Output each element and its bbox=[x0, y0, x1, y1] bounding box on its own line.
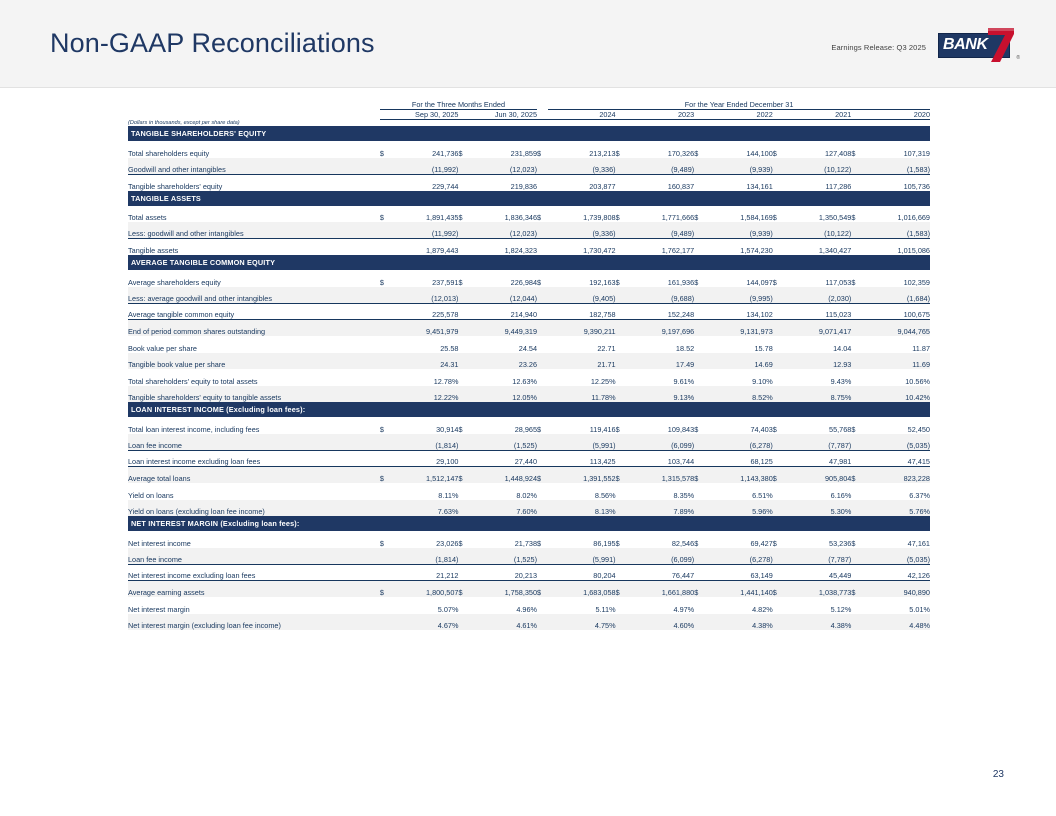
currency-symbol: $ bbox=[694, 467, 705, 484]
table-cell-value: 4.48% bbox=[862, 614, 930, 631]
currency-symbol bbox=[616, 369, 627, 386]
currency-symbol bbox=[458, 597, 469, 614]
currency-symbol bbox=[694, 222, 705, 239]
currency-symbol: $ bbox=[851, 467, 862, 484]
table-row: Total shareholders' equity to total asse… bbox=[128, 369, 930, 386]
currency-symbol: $ bbox=[851, 531, 862, 548]
table-cell-value: 203,877 bbox=[548, 174, 616, 191]
table-cell-value: (9,336) bbox=[548, 222, 616, 239]
table-cell-value: (5,035) bbox=[862, 548, 930, 565]
table-cell-value: 9,197,696 bbox=[627, 320, 695, 337]
currency-symbol: $ bbox=[773, 141, 784, 158]
table-cell-value: 1,824,323 bbox=[470, 239, 538, 256]
table-cell-value: 134,102 bbox=[705, 303, 773, 320]
column-header-sep-2025: Sep 30, 2025 bbox=[380, 110, 459, 120]
currency-symbol bbox=[694, 614, 705, 631]
table-cell-value: (12,044) bbox=[470, 287, 538, 304]
currency-symbol: $ bbox=[694, 206, 705, 223]
table-cell-value: 17.49 bbox=[627, 353, 695, 370]
table-cell-value: 214,940 bbox=[470, 303, 538, 320]
table-row: Tangible shareholders' equity to tangibl… bbox=[128, 386, 930, 403]
table-cell-value: 10.56% bbox=[862, 369, 930, 386]
table-cell-value: 5.11% bbox=[548, 597, 616, 614]
table-cell-value: 226,984 bbox=[470, 270, 538, 287]
currency-symbol bbox=[694, 548, 705, 565]
currency-symbol bbox=[694, 239, 705, 256]
currency-symbol: $ bbox=[773, 467, 784, 484]
table-cell-value: (1,814) bbox=[391, 548, 459, 565]
table-cell-value: 1,730,472 bbox=[548, 239, 616, 256]
table-row: Average tangible common equity225,578214… bbox=[128, 303, 930, 320]
currency-symbol bbox=[616, 386, 627, 403]
currency-symbol bbox=[616, 239, 627, 256]
table-cell-value: (6,278) bbox=[705, 434, 773, 451]
currency-symbol bbox=[773, 483, 784, 500]
currency-symbol bbox=[616, 222, 627, 239]
currency-symbol bbox=[773, 500, 784, 517]
table-cell-value: 1,661,880 bbox=[627, 581, 695, 598]
table-cell-value: 1,143,380 bbox=[705, 467, 773, 484]
table-cell-value: (9,489) bbox=[627, 222, 695, 239]
table-cell-value: 5.12% bbox=[784, 597, 852, 614]
table-cell-value: 12.63% bbox=[470, 369, 538, 386]
currency-symbol: $ bbox=[616, 206, 627, 223]
table-row: End of period common shares outstanding9… bbox=[128, 320, 930, 337]
currency-symbol: $ bbox=[616, 141, 627, 158]
table-cell-value: 182,758 bbox=[548, 303, 616, 320]
table-cell-value: (12,023) bbox=[470, 158, 538, 175]
currency-symbol bbox=[616, 614, 627, 631]
table-row: Tangible shareholders' equity229,744219,… bbox=[128, 174, 930, 191]
table-cell-value: 940,890 bbox=[862, 581, 930, 598]
currency-symbol bbox=[616, 287, 627, 304]
table-cell-value: 1,584,169 bbox=[705, 206, 773, 223]
row-label: Average total loans bbox=[128, 467, 380, 484]
currency-symbol bbox=[851, 287, 862, 304]
table-cell-value: 231,859 bbox=[470, 141, 538, 158]
slide-root: Non-GAAP Reconciliations Earnings Releas… bbox=[0, 0, 1056, 816]
currency-symbol bbox=[458, 174, 469, 191]
currency-symbol bbox=[773, 222, 784, 239]
table-cell-value: 15.78 bbox=[705, 336, 773, 353]
currency-symbol bbox=[380, 353, 391, 370]
table-cell-value: 63,149 bbox=[705, 564, 773, 581]
currency-symbol bbox=[773, 434, 784, 451]
table-cell-value: (10,122) bbox=[784, 222, 852, 239]
currency-symbol: $ bbox=[380, 206, 391, 223]
table-cell-value: 23.26 bbox=[470, 353, 538, 370]
table-cell-value: 22.71 bbox=[548, 336, 616, 353]
table-cell-value: 1,038,773 bbox=[784, 581, 852, 598]
table-cell-value: 1,758,350 bbox=[470, 581, 538, 598]
table-row: Net interest income$23,026$21,738$86,195… bbox=[128, 531, 930, 548]
currency-symbol bbox=[773, 369, 784, 386]
table-cell-value: 7.89% bbox=[627, 500, 695, 517]
section-header-row: TANGIBLE SHAREHOLDERS' EQUITY bbox=[128, 126, 930, 141]
currency-symbol bbox=[773, 450, 784, 467]
table-cell-value: 9.61% bbox=[627, 369, 695, 386]
table-cell-value: 21,212 bbox=[391, 564, 459, 581]
currency-symbol bbox=[537, 239, 548, 256]
currency-symbol bbox=[380, 548, 391, 565]
currency-symbol bbox=[458, 303, 469, 320]
table-cell-value: 28,965 bbox=[470, 417, 538, 434]
currency-symbol: $ bbox=[616, 581, 627, 598]
table-row: Less: average goodwill and other intangi… bbox=[128, 287, 930, 304]
currency-symbol: $ bbox=[458, 206, 469, 223]
table-row: Net interest income excluding loan fees2… bbox=[128, 564, 930, 581]
table-row: Net interest margin (excluding loan fee … bbox=[128, 614, 930, 631]
currency-symbol: $ bbox=[694, 270, 705, 287]
currency-symbol bbox=[851, 450, 862, 467]
table-cell-value: (1,525) bbox=[470, 434, 538, 451]
section-title: TANGIBLE SHAREHOLDERS' EQUITY bbox=[128, 126, 930, 141]
currency-symbol: $ bbox=[380, 141, 391, 158]
table-row: Average shareholders equity$237,591$226,… bbox=[128, 270, 930, 287]
currency-symbol bbox=[694, 434, 705, 451]
currency-symbol bbox=[616, 564, 627, 581]
currency-symbol bbox=[773, 239, 784, 256]
table-row: Goodwill and other intangibles(11,992)(1… bbox=[128, 158, 930, 175]
currency-symbol bbox=[851, 597, 862, 614]
table-cell-value: 1,350,549 bbox=[784, 206, 852, 223]
table-cell-value: 8.75% bbox=[784, 386, 852, 403]
table-cell-value: 1,315,578 bbox=[627, 467, 695, 484]
currency-symbol bbox=[616, 434, 627, 451]
currency-symbol bbox=[380, 320, 391, 337]
currency-symbol bbox=[851, 320, 862, 337]
table-cell-value: 6.16% bbox=[784, 483, 852, 500]
table-cell-value: 11.78% bbox=[548, 386, 616, 403]
table-cell-value: 1,340,427 bbox=[784, 239, 852, 256]
currency-symbol bbox=[616, 548, 627, 565]
row-label: Less: average goodwill and other intangi… bbox=[128, 287, 380, 304]
row-label: Net interest margin (excluding loan fee … bbox=[128, 614, 380, 631]
section-title: LOAN INTEREST INCOME (Excluding loan fee… bbox=[128, 402, 930, 417]
table-cell-value: (9,405) bbox=[548, 287, 616, 304]
table-cell-value: 42,126 bbox=[862, 564, 930, 581]
row-label: Total assets bbox=[128, 206, 380, 223]
row-label: Total loan interest income, including fe… bbox=[128, 417, 380, 434]
table-cell-value: 7.60% bbox=[470, 500, 538, 517]
table-cell-value: (9,489) bbox=[627, 158, 695, 175]
currency-symbol bbox=[537, 174, 548, 191]
currency-symbol: $ bbox=[616, 270, 627, 287]
table-cell-value: 12.05% bbox=[470, 386, 538, 403]
table-cell-value: 86,195 bbox=[548, 531, 616, 548]
table-cell-value: 20,213 bbox=[470, 564, 538, 581]
currency-symbol bbox=[380, 174, 391, 191]
table-cell-value: 80,204 bbox=[548, 564, 616, 581]
currency-symbol bbox=[537, 483, 548, 500]
currency-symbol bbox=[694, 483, 705, 500]
currency-symbol bbox=[380, 434, 391, 451]
currency-symbol bbox=[694, 564, 705, 581]
table-cell-value: 107,319 bbox=[862, 141, 930, 158]
table-cell-value: (7,787) bbox=[784, 548, 852, 565]
logo-seven-icon bbox=[984, 28, 1014, 62]
currency-symbol bbox=[694, 174, 705, 191]
currency-symbol bbox=[537, 614, 548, 631]
column-header-2022: 2022 bbox=[694, 110, 773, 120]
currency-symbol bbox=[616, 450, 627, 467]
table-cell-value: 4.82% bbox=[705, 597, 773, 614]
table-cell-value: 1,683,058 bbox=[548, 581, 616, 598]
table-cell-value: 12.22% bbox=[391, 386, 459, 403]
row-label: Total shareholders equity bbox=[128, 141, 380, 158]
currency-symbol bbox=[537, 434, 548, 451]
table-cell-value: (11,992) bbox=[391, 158, 459, 175]
currency-symbol bbox=[851, 353, 862, 370]
table-cell-value: 102,359 bbox=[862, 270, 930, 287]
currency-symbol bbox=[851, 548, 862, 565]
currency-symbol bbox=[537, 353, 548, 370]
table-cell-value: 219,836 bbox=[470, 174, 538, 191]
table-cell-value: 103,744 bbox=[627, 450, 695, 467]
logo-registered-mark: ® bbox=[1016, 55, 1020, 61]
currency-symbol bbox=[458, 369, 469, 386]
table-cell-value: 160,837 bbox=[627, 174, 695, 191]
currency-symbol bbox=[380, 158, 391, 175]
currency-symbol bbox=[537, 222, 548, 239]
currency-symbol bbox=[380, 614, 391, 631]
currency-symbol: $ bbox=[694, 417, 705, 434]
currency-symbol bbox=[537, 303, 548, 320]
non-gaap-reconciliation-table: For the Three Months Ended For the Year … bbox=[128, 100, 930, 630]
table-cell-value: 1,762,177 bbox=[627, 239, 695, 256]
table-cell-value: 52,450 bbox=[862, 417, 930, 434]
currency-symbol bbox=[694, 287, 705, 304]
table-cell-value: 9.10% bbox=[705, 369, 773, 386]
table-cell-value: 1,391,552 bbox=[548, 467, 616, 484]
table-cell-value: 74,403 bbox=[705, 417, 773, 434]
table-cell-value: 8.13% bbox=[548, 500, 616, 517]
currency-symbol bbox=[537, 450, 548, 467]
currency-symbol: $ bbox=[773, 270, 784, 287]
currency-symbol bbox=[616, 353, 627, 370]
currency-symbol bbox=[851, 369, 862, 386]
currency-symbol bbox=[537, 548, 548, 565]
currency-symbol: $ bbox=[380, 417, 391, 434]
currency-symbol bbox=[458, 500, 469, 517]
table-cell-value: 47,161 bbox=[862, 531, 930, 548]
table-cell-value: 1,771,666 bbox=[627, 206, 695, 223]
section-header-row: TANGIBLE ASSETS bbox=[128, 191, 930, 206]
table-cell-value: 113,425 bbox=[548, 450, 616, 467]
table-cell-value: 9,131,973 bbox=[705, 320, 773, 337]
currency-symbol bbox=[773, 320, 784, 337]
table-cell-value: 47,415 bbox=[862, 450, 930, 467]
currency-symbol bbox=[773, 564, 784, 581]
table-cell-value: 823,228 bbox=[862, 467, 930, 484]
currency-symbol bbox=[694, 386, 705, 403]
table-cell-value: 55,768 bbox=[784, 417, 852, 434]
currency-symbol bbox=[773, 287, 784, 304]
table-cell-value: 10.42% bbox=[862, 386, 930, 403]
currency-symbol: $ bbox=[773, 531, 784, 548]
currency-symbol bbox=[694, 500, 705, 517]
table-cell-value: 144,097 bbox=[705, 270, 773, 287]
currency-symbol: $ bbox=[773, 206, 784, 223]
table-cell-value: 30,914 bbox=[391, 417, 459, 434]
currency-symbol: $ bbox=[537, 206, 548, 223]
group-header-three-months: For the Three Months Ended bbox=[380, 100, 537, 110]
currency-symbol bbox=[537, 386, 548, 403]
currency-symbol bbox=[537, 287, 548, 304]
table-cell-value: 1,016,669 bbox=[862, 206, 930, 223]
table-cell-value: 241,736 bbox=[391, 141, 459, 158]
currency-symbol bbox=[694, 450, 705, 467]
currency-symbol bbox=[458, 548, 469, 565]
currency-symbol bbox=[537, 369, 548, 386]
table-cell-value: (9,995) bbox=[705, 287, 773, 304]
table-row: Total shareholders equity$241,736$231,85… bbox=[128, 141, 930, 158]
table-cell-value: 117,286 bbox=[784, 174, 852, 191]
currency-symbol bbox=[851, 564, 862, 581]
table-row: Average earning assets$1,800,507$1,758,3… bbox=[128, 581, 930, 598]
table-row: Yield on loans (excluding loan fee incom… bbox=[128, 500, 930, 517]
row-label: Average earning assets bbox=[128, 581, 380, 598]
currency-symbol: $ bbox=[458, 531, 469, 548]
currency-symbol bbox=[537, 564, 548, 581]
earnings-release-tag: Earnings Release: Q3 2025 bbox=[831, 43, 926, 52]
page-number: 23 bbox=[993, 769, 1004, 780]
table-cell-value: (12,023) bbox=[470, 222, 538, 239]
currency-symbol bbox=[616, 158, 627, 175]
table-cell-value: 8.56% bbox=[548, 483, 616, 500]
row-label: Loan fee income bbox=[128, 434, 380, 451]
table-cell-value: 1,739,808 bbox=[548, 206, 616, 223]
currency-symbol bbox=[851, 239, 862, 256]
table-cell-value: 14.69 bbox=[705, 353, 773, 370]
table-cell-value: 8.35% bbox=[627, 483, 695, 500]
currency-symbol bbox=[537, 158, 548, 175]
table-cell-value: 29,100 bbox=[391, 450, 459, 467]
currency-symbol: $ bbox=[458, 417, 469, 434]
currency-symbol bbox=[773, 597, 784, 614]
table-row: Loan fee income(1,814)(1,525)(5,991)(6,0… bbox=[128, 548, 930, 565]
currency-symbol: $ bbox=[380, 531, 391, 548]
currency-symbol bbox=[616, 320, 627, 337]
currency-symbol: $ bbox=[616, 531, 627, 548]
table-row: Less: goodwill and other intangibles(11,… bbox=[128, 222, 930, 239]
column-header-2021: 2021 bbox=[773, 110, 852, 120]
table-cell-value: (9,336) bbox=[548, 158, 616, 175]
table-cell-value: 134,161 bbox=[705, 174, 773, 191]
currency-symbol: $ bbox=[458, 141, 469, 158]
table-cell-value: (10,122) bbox=[784, 158, 852, 175]
section-header-row: NET INTEREST MARGIN (Excluding loan fees… bbox=[128, 516, 930, 531]
group-header-spacer bbox=[128, 100, 380, 110]
currency-symbol bbox=[694, 353, 705, 370]
table-cell-value: 21,738 bbox=[470, 531, 538, 548]
section-title: AVERAGE TANGIBLE COMMON EQUITY bbox=[128, 255, 930, 270]
currency-symbol bbox=[458, 434, 469, 451]
table-cell-value: (1,583) bbox=[862, 222, 930, 239]
column-header-2023: 2023 bbox=[616, 110, 695, 120]
bank7-logo: BANK ® bbox=[938, 28, 1018, 62]
logo-wordmark: BANK bbox=[943, 36, 988, 54]
table-cell-value: 82,546 bbox=[627, 531, 695, 548]
currency-symbol bbox=[694, 303, 705, 320]
table-cell-value: 8.11% bbox=[391, 483, 459, 500]
page-title: Non-GAAP Reconciliations bbox=[50, 28, 375, 59]
currency-symbol bbox=[616, 597, 627, 614]
currency-symbol: $ bbox=[851, 206, 862, 223]
table-cell-value: 8.52% bbox=[705, 386, 773, 403]
table-cell-value: 12.25% bbox=[548, 369, 616, 386]
table-cell-value: 7.63% bbox=[391, 500, 459, 517]
table-cell-value: 24.54 bbox=[470, 336, 538, 353]
section-header-row: AVERAGE TANGIBLE COMMON EQUITY bbox=[128, 255, 930, 270]
currency-symbol bbox=[380, 239, 391, 256]
table-cell-value: 6.51% bbox=[705, 483, 773, 500]
table-row: Average total loans$1,512,147$1,448,924$… bbox=[128, 467, 930, 484]
currency-symbol: $ bbox=[851, 270, 862, 287]
table-cell-value: 9.43% bbox=[784, 369, 852, 386]
currency-symbol bbox=[458, 336, 469, 353]
currency-symbol: $ bbox=[694, 581, 705, 598]
currency-symbol bbox=[694, 336, 705, 353]
currency-symbol: $ bbox=[537, 467, 548, 484]
table-cell-value: 27,440 bbox=[470, 450, 538, 467]
table-cell-value: 105,736 bbox=[862, 174, 930, 191]
currency-symbol bbox=[458, 450, 469, 467]
table-cell-value: 6.37% bbox=[862, 483, 930, 500]
table-row: Total loan interest income, including fe… bbox=[128, 417, 930, 434]
currency-symbol bbox=[380, 336, 391, 353]
table-cell-value: (6,099) bbox=[627, 548, 695, 565]
currency-symbol bbox=[851, 386, 862, 403]
currency-symbol: $ bbox=[773, 417, 784, 434]
row-label: Tangible book value per share bbox=[128, 353, 380, 370]
currency-symbol bbox=[851, 222, 862, 239]
table-row: Yield on loans8.11%8.02%8.56%8.35%6.51%6… bbox=[128, 483, 930, 500]
table-cell-value: (5,991) bbox=[548, 548, 616, 565]
table-cell-value: (12,013) bbox=[391, 287, 459, 304]
reconciliation-table-area: For the Three Months Ended For the Year … bbox=[128, 100, 930, 630]
table-cell-value: 1,015,086 bbox=[862, 239, 930, 256]
currency-symbol bbox=[458, 287, 469, 304]
table-cell-value: 68,125 bbox=[705, 450, 773, 467]
row-label: End of period common shares outstanding bbox=[128, 320, 380, 337]
table-cell-value: (1,583) bbox=[862, 158, 930, 175]
table-cell-value: 4.97% bbox=[627, 597, 695, 614]
row-label: Tangible shareholders' equity to tangibl… bbox=[128, 386, 380, 403]
table-cell-value: 5.07% bbox=[391, 597, 459, 614]
currency-symbol bbox=[851, 500, 862, 517]
row-label: Average shareholders equity bbox=[128, 270, 380, 287]
table-cell-value: 1,836,346 bbox=[470, 206, 538, 223]
currency-symbol bbox=[458, 564, 469, 581]
table-cell-value: 1,574,230 bbox=[705, 239, 773, 256]
group-header-row: For the Three Months Ended For the Year … bbox=[128, 100, 930, 110]
table-cell-value: 11.87 bbox=[862, 336, 930, 353]
currency-symbol bbox=[380, 500, 391, 517]
currency-symbol bbox=[380, 450, 391, 467]
table-cell-value: 9,449,319 bbox=[470, 320, 538, 337]
table-cell-value: 21.71 bbox=[548, 353, 616, 370]
currency-symbol bbox=[616, 336, 627, 353]
table-cell-value: (9,939) bbox=[705, 158, 773, 175]
currency-symbol bbox=[851, 303, 862, 320]
section-header-row: LOAN INTEREST INCOME (Excluding loan fee… bbox=[128, 402, 930, 417]
currency-symbol bbox=[694, 597, 705, 614]
table-row: Tangible book value per share24.3123.262… bbox=[128, 353, 930, 370]
currency-symbol bbox=[851, 483, 862, 500]
currency-symbol bbox=[773, 174, 784, 191]
table-cell-value: 1,891,435 bbox=[391, 206, 459, 223]
